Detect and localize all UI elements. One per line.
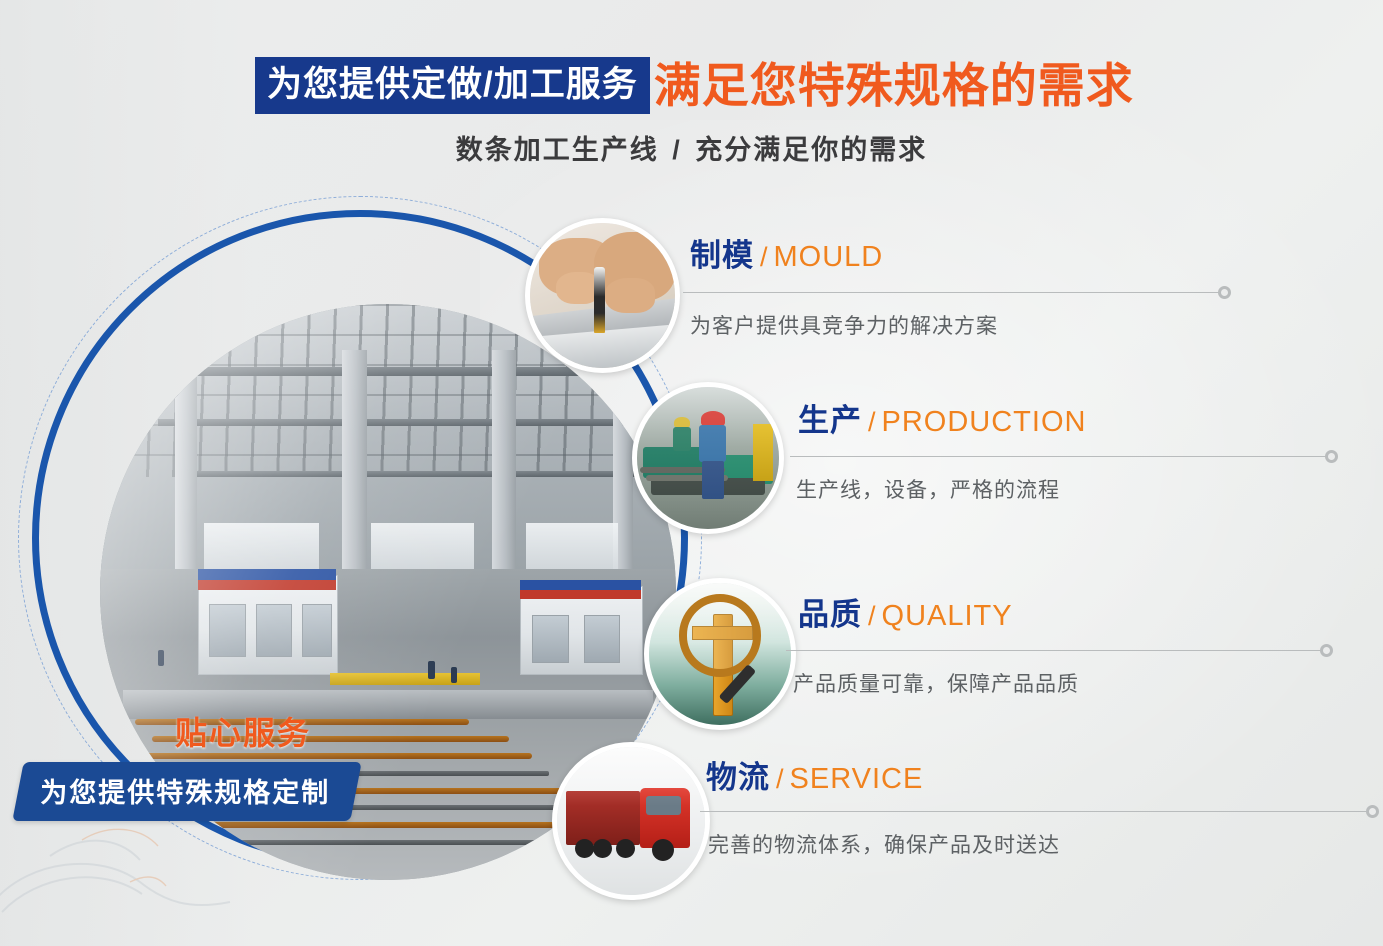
quality-heading-cn: 品质 <box>798 597 862 632</box>
subtitle: 数条加工生产线 / 充分满足你的需求 <box>0 128 1383 167</box>
quality-divider-dot <box>1320 644 1333 657</box>
service-description: 完善的物流体系，确保产品及时送达 <box>708 829 1060 859</box>
service-thumbnail[interactable] <box>552 742 710 900</box>
service-title: 贴心服务 <box>175 708 311 754</box>
production-description: 生产线，设备，严格的流程 <box>796 474 1060 504</box>
quality-heading-sep: / <box>862 601 882 631</box>
production-thumbnail[interactable] <box>632 382 784 534</box>
production-icon <box>637 387 779 529</box>
service-heading-sep: / <box>770 764 790 794</box>
service-divider <box>700 811 1372 812</box>
service-banner: 为您提供特殊规格定制 <box>12 762 361 821</box>
subtitle-right: 充分满足你的需求 <box>695 135 927 165</box>
quality-thumbnail[interactable] <box>644 578 796 730</box>
mould-heading-en: MOULD <box>774 241 884 273</box>
mould-heading-sep: / <box>754 242 774 272</box>
title-badge: 为您提供定做/加工服务 <box>255 57 650 114</box>
quality-heading-en: QUALITY <box>882 600 1013 632</box>
mould-icon <box>530 223 675 368</box>
production-heading-sep: / <box>862 407 882 437</box>
service-heading-en: SERVICE <box>790 763 924 795</box>
quality-heading: 品质/QUALITY <box>798 599 1013 631</box>
quality-divider <box>786 650 1326 651</box>
service-divider-dot <box>1366 805 1379 818</box>
mould-divider-dot <box>1218 286 1231 299</box>
mould-description: 为客户提供具竞争力的解决方案 <box>690 310 998 340</box>
subtitle-left: 数条加工生产线 <box>456 135 659 165</box>
production-heading-cn: 生产 <box>798 403 862 438</box>
promo-banner: 为您提供定做/加工服务 满足您特殊规格的需求 数条加工生产线 / 充分满足你的需… <box>0 0 1383 946</box>
subtitle-slash: / <box>668 135 686 165</box>
main-title: 为您提供定做/加工服务 满足您特殊规格的需求 <box>255 57 1134 114</box>
mould-thumbnail[interactable] <box>525 218 680 373</box>
quality-icon <box>649 583 791 725</box>
service-heading-cn: 物流 <box>706 760 770 795</box>
production-divider-dot <box>1325 450 1338 463</box>
title-highlight: 满足您特殊规格的需求 <box>654 62 1134 109</box>
quality-description: 产品质量可靠，保障产品品质 <box>793 668 1079 698</box>
production-divider <box>790 456 1331 457</box>
production-heading-en: PRODUCTION <box>882 406 1087 438</box>
production-heading: 生产/PRODUCTION <box>798 405 1086 437</box>
service-heading: 物流/SERVICE <box>706 762 923 794</box>
mould-divider <box>683 292 1225 293</box>
logistics-truck-icon <box>557 747 705 895</box>
mould-heading: 制模/MOULD <box>690 240 883 272</box>
mould-heading-cn: 制模 <box>690 238 754 273</box>
service-banner-label: 为您提供特殊规格定制 <box>40 771 330 810</box>
